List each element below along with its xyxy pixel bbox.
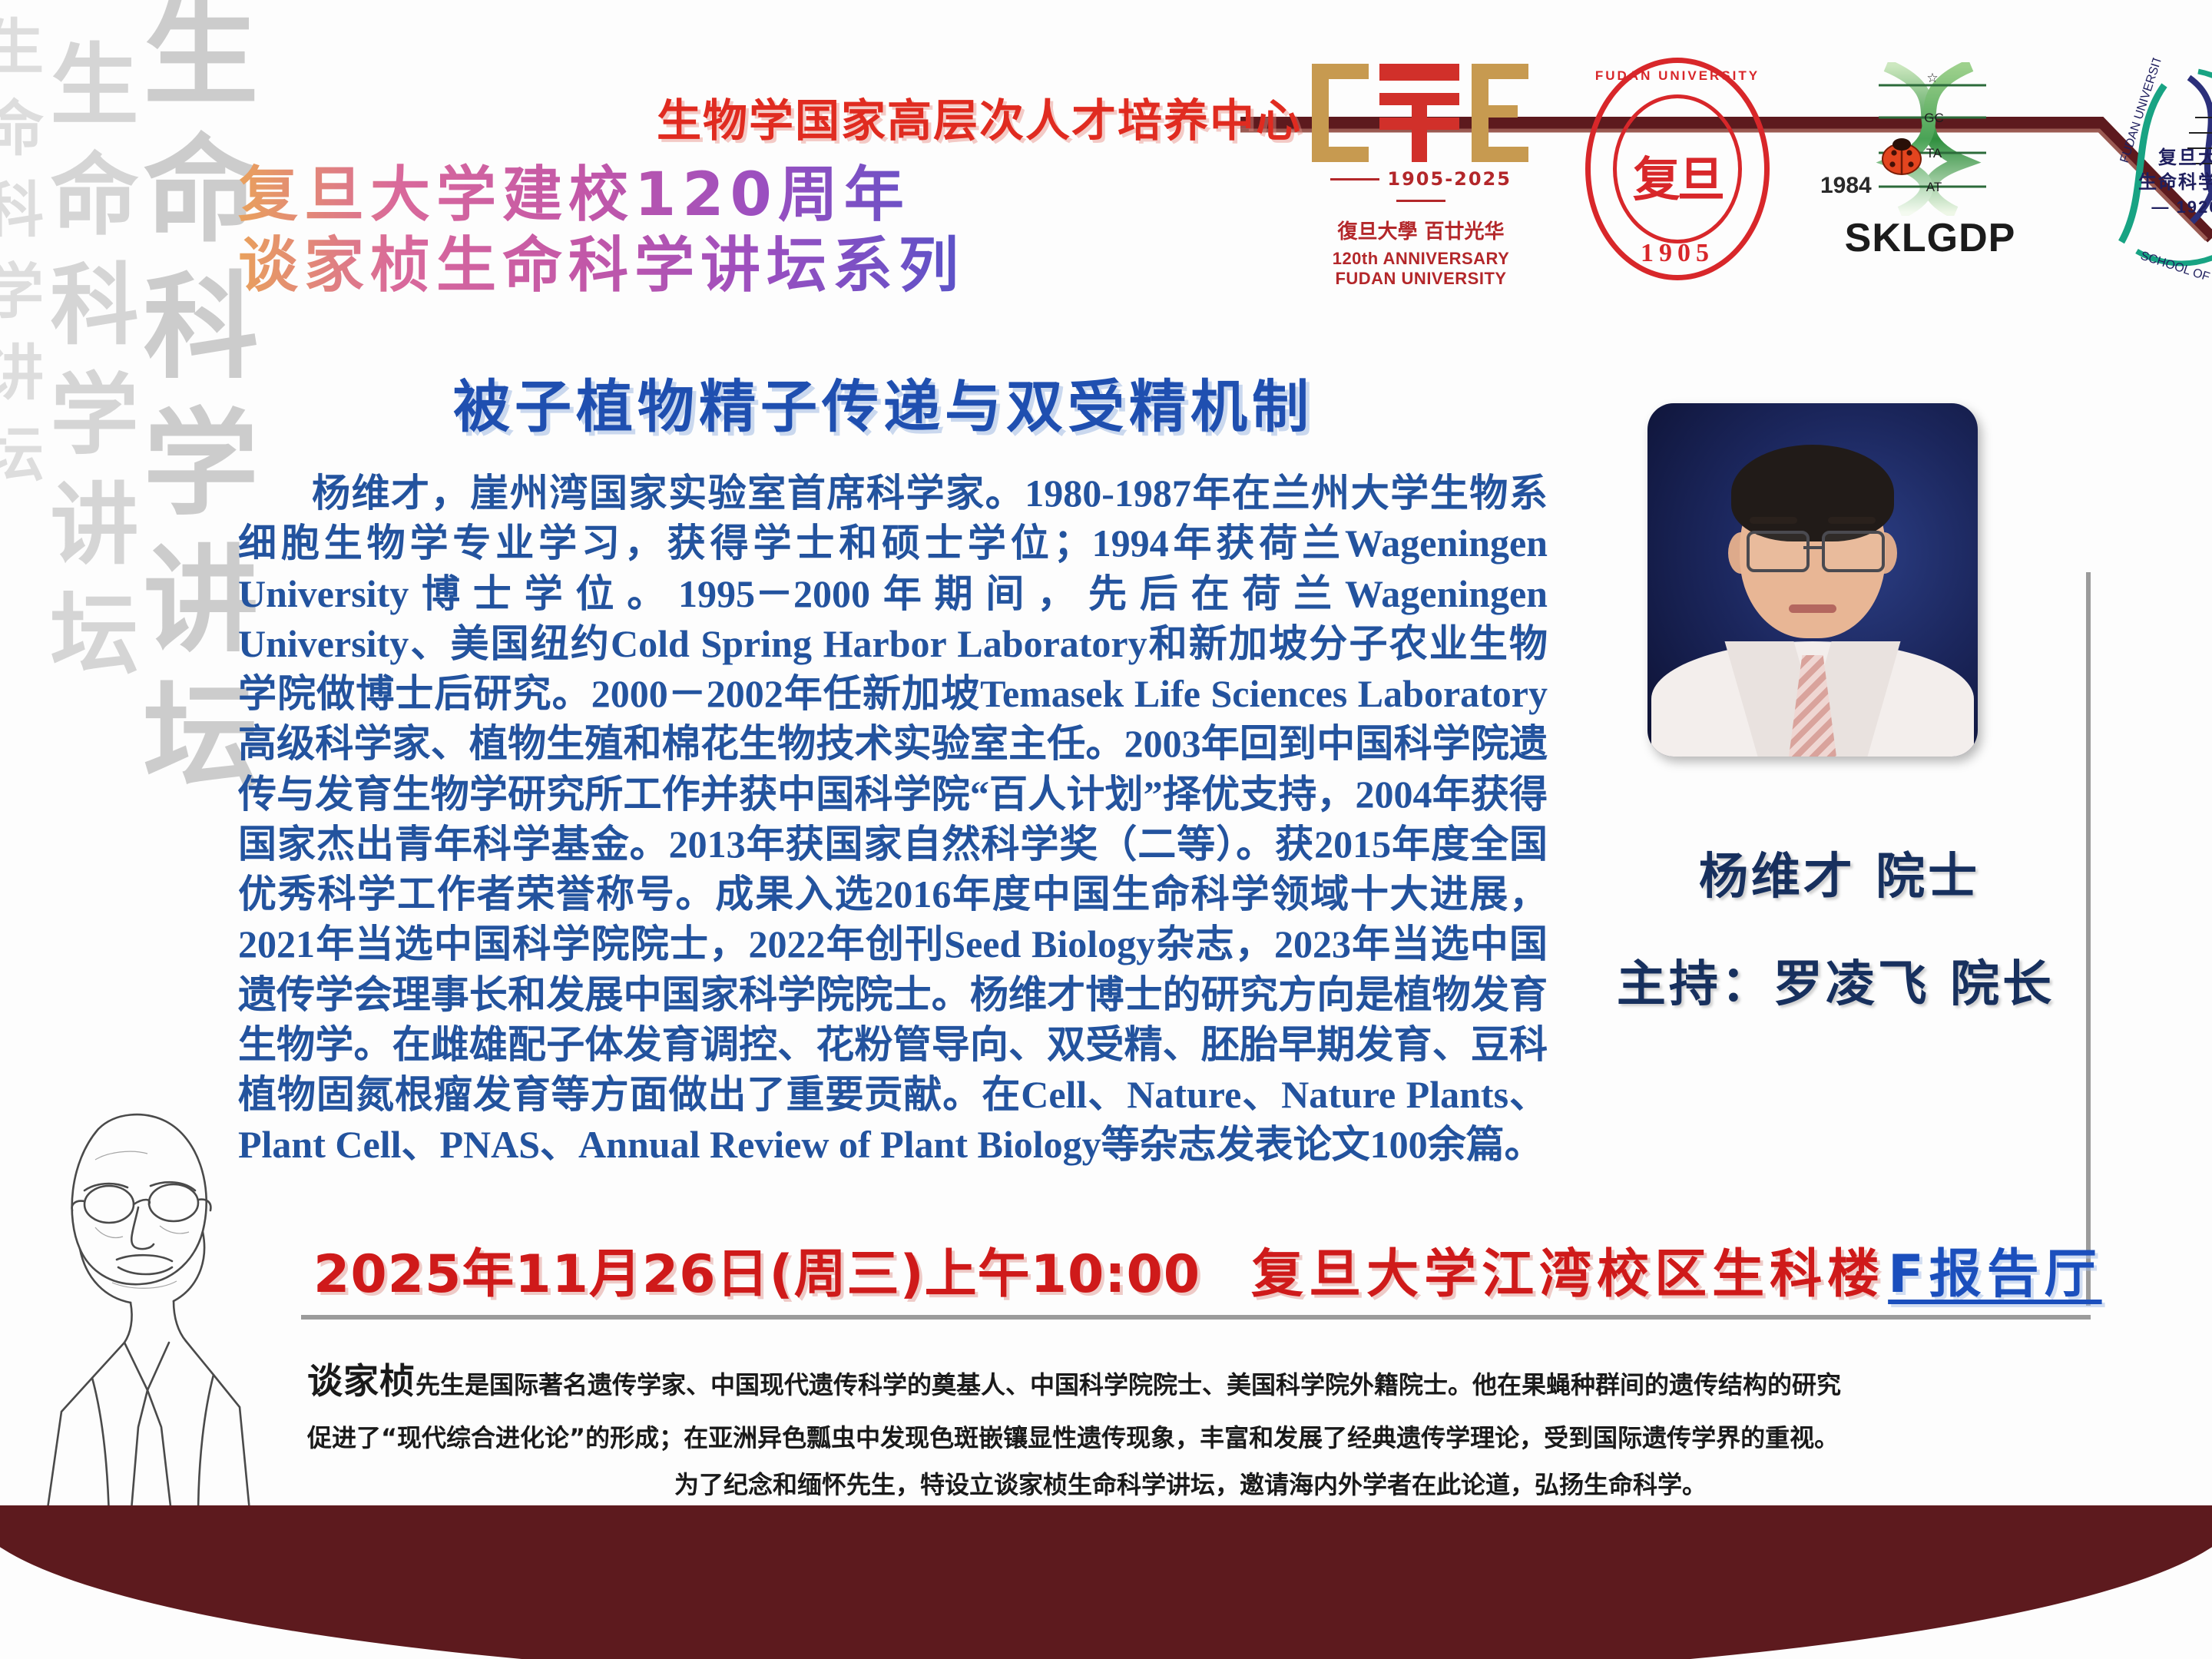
tan-jiazhen-name: 谈家桢 [307, 1360, 416, 1402]
center-name: 生物学国家高层次人才培养中心 [657, 84, 1302, 149]
sklgdp-name: SKLGDP [1819, 215, 2041, 261]
sklgdp-logo: ☆GCTAAT 1984 SKLGDP [1819, 58, 2041, 280]
logo-strip: 1905-2025 復旦大學 百廿光华 120th ANNIVERSARY FU… [1306, 54, 2212, 284]
watermark-column-2: 生命科学讲坛 [23, 38, 151, 697]
vertical-divider [2086, 572, 2091, 1306]
anniversary-years: 1905-2025 [1306, 168, 1536, 211]
anniversary-cn-name: 復旦大學 百廿光华 [1306, 216, 1536, 244]
svg-text:GC: GC [1924, 111, 1944, 125]
anniversary-en-line2: FUDAN UNIVERSITY [1306, 269, 1536, 289]
footer-line-1-rest: 先生是国际著名遗传学家、中国现代遗传科学的奠基人、中国科学院院士、美国科学院外籍… [416, 1370, 1841, 1399]
lecture-hall: F报告厅 [1888, 1244, 2101, 1305]
footer-line-1: 谈家桢先生是国际著名遗传学家、中国现代遗传科学的奠基人、中国科学院院士、美国科学… [307, 1350, 2074, 1413]
horizontal-divider [301, 1315, 2091, 1320]
poster-root: 生命科学讲坛 生命科学讲坛 生命科学讲坛 生物学国家高层次人才培养中心 复旦大学… [0, 0, 2212, 1659]
sls-year: — 1926 — [2091, 197, 2212, 217]
series-title-line1: 复旦大学建校120周年 [238, 161, 910, 230]
lecture-datetime: 2025年11月26日(周三)上午10:00 [313, 1244, 1200, 1305]
seal-arc-text: FUDAN UNIVERSITY [1585, 68, 1770, 84]
svg-text:AT: AT [1926, 180, 1942, 194]
lecture-venue: 复旦大学江湾校区生科楼 [1251, 1244, 1885, 1305]
svg-text:TA: TA [1926, 146, 1942, 161]
lecture-title: 被子植物精子传递与双受精机制 [253, 361, 1513, 443]
datetime-venue-bar: 2025年11月26日(周三)上午10:00 复旦大学江湾校区生科楼 F报告厅 [313, 1231, 2080, 1305]
anniversary-mark-icon [1306, 50, 1536, 165]
sls-cn-line2: 生命科学学院 [2091, 167, 2212, 194]
series-title-line2: 谈家桢生命科学讲坛系列 [238, 230, 965, 301]
svg-text:☆: ☆ [1926, 71, 1938, 85]
anniversary-logo: 1905-2025 復旦大學 百廿光华 120th ANNIVERSARY FU… [1306, 50, 1536, 289]
host-name: 主持：罗凌飞 院长 [1567, 945, 2104, 1015]
footer-line-3: 为了纪念和缅怀先生，特设立谈家桢生命科学讲坛，邀请海内外学者在此论道，弘扬生命科… [307, 1463, 2074, 1507]
fudan-university-seal-logo: FUDAN UNIVERSITY 复旦 1905 [1585, 58, 1770, 280]
seal-year: 1905 [1585, 239, 1770, 268]
speaker-bio: 杨维才，崖州湾国家实验室首席科学家。1980-1987年在兰州大学生物系细胞生物… [238, 469, 1548, 1171]
sls-arc-bottom-text: SCHOOL OF LIFE SCI [2139, 250, 2212, 280]
sls-cn-line1: 复旦大学 [2091, 142, 2212, 169]
school-of-life-sciences-logo: FUDAN UNIVERSITY SCHOOL OF LIFE SCI 复旦大学… [2091, 58, 2212, 280]
watermark-column-3: 生命科学讲坛 [0, 15, 51, 504]
sklgdp-year: 1984 [1820, 173, 1872, 199]
speaker-photo [1647, 403, 1978, 757]
dna-helix-icon: ☆GCTAAT [1863, 62, 2002, 216]
seal-center-text: 复旦 [1585, 141, 1770, 210]
series-title: 复旦大学建校120周年 谈家桢生命科学讲坛系列 [238, 160, 965, 301]
tan-jiazhen-sketch-portrait [15, 1089, 269, 1519]
bottom-band [0, 1505, 2212, 1659]
memorial-footer: 谈家桢先生是国际著名遗传学家、中国现代遗传科学的奠基人、中国科学院院士、美国科学… [307, 1350, 2074, 1510]
speaker-name: 杨维才 院士 [1624, 837, 2055, 908]
footer-line-2: 促进了“现代综合进化论”的形成；在亚洲异色瓢虫中发现色斑嵌镶显性遗传现象，丰富和… [307, 1416, 2074, 1460]
anniversary-en-line1: 120th ANNIVERSARY [1306, 249, 1536, 269]
